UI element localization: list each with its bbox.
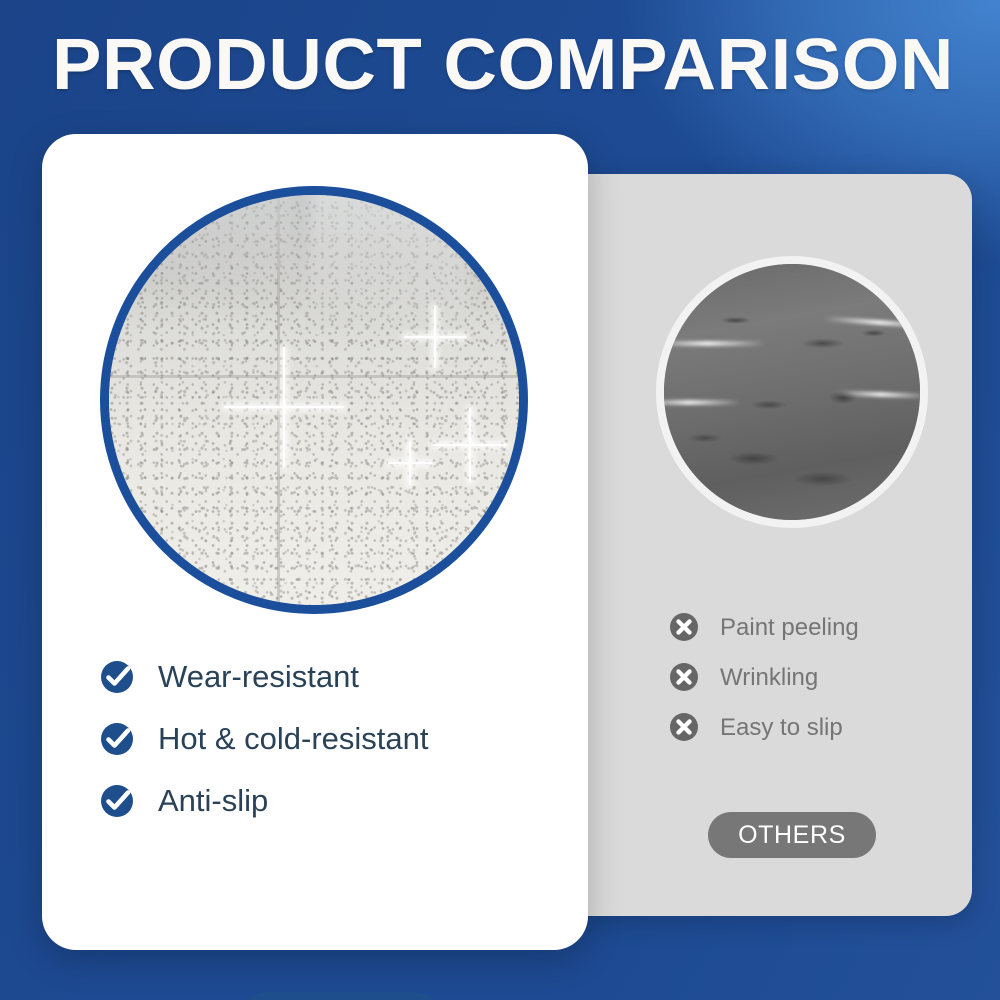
glare-streak [656, 341, 766, 346]
ours-card: Wear-resistant Hot & cold-resistant [42, 134, 588, 950]
x-circle-icon [668, 661, 700, 693]
check-circle-icon [98, 782, 136, 820]
others-issue-list: Paint peeling Wrinkling [668, 602, 958, 752]
gloss-reflection [158, 186, 297, 293]
others-badge: OTHERS [708, 812, 876, 858]
list-item: Wrinkling [668, 652, 958, 702]
ours-feature-label: Hot & cold-resistant [158, 722, 429, 756]
list-item: Anti-slip [98, 770, 558, 832]
check-circle-icon [98, 658, 136, 696]
others-product-image [656, 256, 928, 528]
others-issue-label: Wrinkling [720, 664, 818, 691]
list-item: Hot & cold-resistant [98, 708, 558, 770]
product-comparison-poster: PRODUCT COMPARISON Paint peeling [0, 0, 1000, 1000]
ours-badge: OURS [239, 992, 443, 1000]
others-issue-label: Easy to slip [720, 714, 843, 741]
list-item: Paint peeling [668, 602, 958, 652]
list-item: Wear-resistant [98, 646, 558, 708]
ours-feature-label: Anti-slip [158, 784, 268, 818]
list-item: Easy to slip [668, 702, 958, 752]
ours-feature-label: Wear-resistant [158, 660, 359, 694]
others-panel: Paint peeling Wrinkling [560, 174, 972, 916]
check-circle-icon [98, 720, 136, 758]
x-circle-icon [668, 611, 700, 643]
others-issue-label: Paint peeling [720, 614, 859, 641]
glare-streak [656, 400, 741, 405]
ours-feature-list: Wear-resistant Hot & cold-resistant [98, 646, 558, 832]
x-circle-icon [668, 711, 700, 743]
grout-line [109, 375, 519, 378]
gloss-reflection [306, 186, 470, 334]
page-title: PRODUCT COMPARISON [34, 26, 971, 104]
ours-product-image [100, 186, 528, 614]
